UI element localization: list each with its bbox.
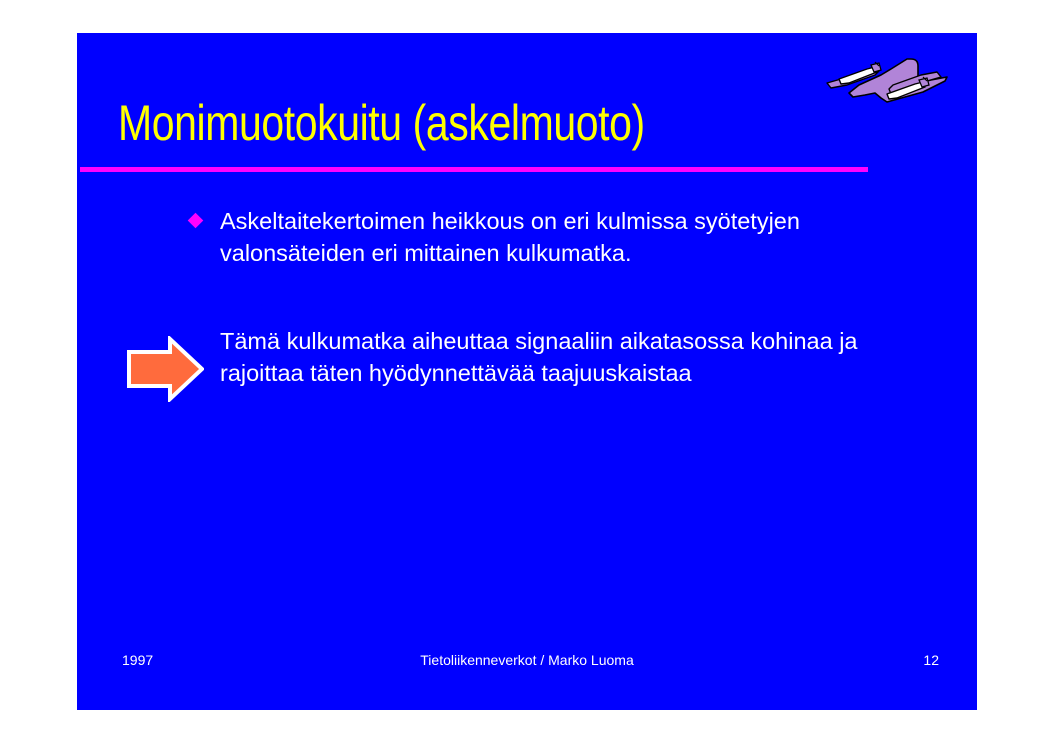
callout-text: Tämä kulkumatka aiheuttaa signaaliin aik… xyxy=(220,328,857,386)
title-divider xyxy=(80,167,868,172)
right-arrow-icon xyxy=(127,336,204,402)
callout-item: Tämä kulkumatka aiheuttaa signaaliin aik… xyxy=(220,325,920,389)
diamond-bullet-icon xyxy=(188,213,204,229)
slide-page: Monimuotokuitu (askelmuoto) Askeltaiteke… xyxy=(0,0,1053,744)
presentation-slide: Monimuotokuitu (askelmuoto) Askeltaiteke… xyxy=(77,33,977,710)
bullet-text: Askeltaitekertoimen heikkous on eri kulm… xyxy=(220,208,800,266)
page-title: Monimuotokuitu (askelmuoto) xyxy=(118,95,790,151)
footer-page-number: 12 xyxy=(77,651,939,669)
zigzag-fiber-logo xyxy=(819,53,949,111)
bullet-item: Askeltaitekertoimen heikkous on eri kulm… xyxy=(220,205,920,269)
